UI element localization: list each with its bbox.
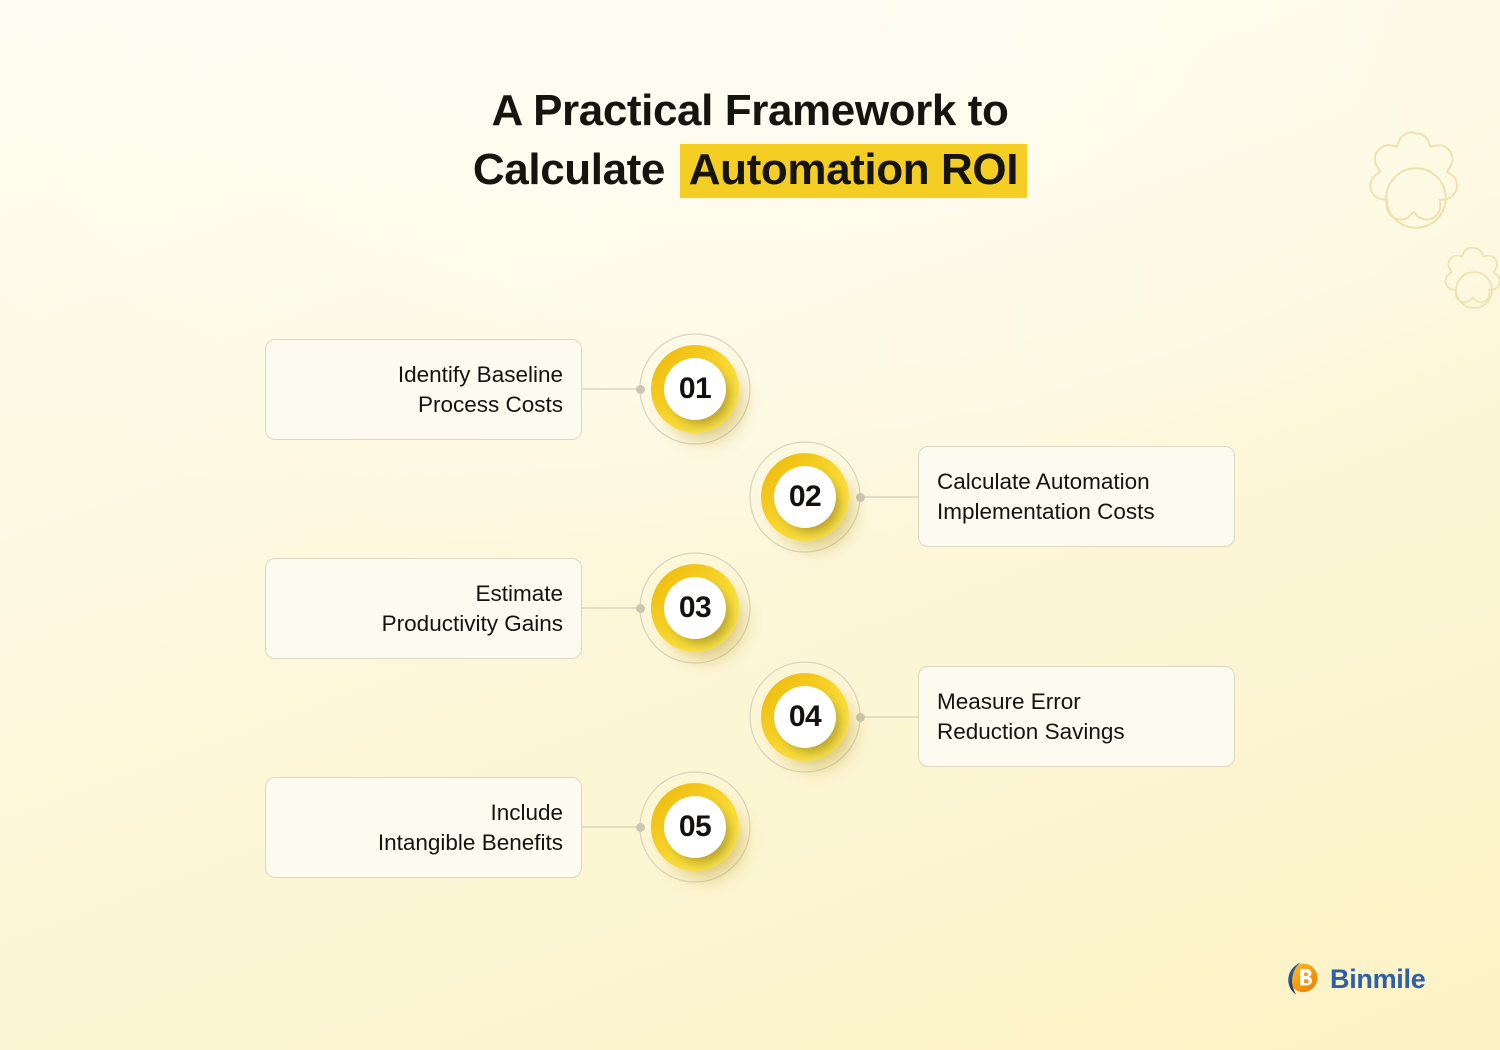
gear-icon — [1414, 230, 1500, 350]
step-card-3[interactable]: Estimate Productivity Gains — [265, 558, 582, 659]
connector-dot-1 — [636, 385, 645, 394]
connector-dot-2 — [856, 493, 865, 502]
step-node-inner-2: 02 — [774, 466, 836, 528]
title-line-2-prefix: Calculate — [473, 145, 677, 194]
step-number-3: 03 — [679, 593, 711, 623]
step-label-1: Identify Baseline Process Costs — [284, 360, 563, 420]
binmile-logo-icon — [1283, 960, 1321, 998]
title-line-2: Calculate Automation ROI — [0, 141, 1500, 200]
step-number-1: 01 — [679, 374, 711, 404]
step-card-5[interactable]: Include Intangible Benefits — [265, 777, 582, 878]
step-number-5: 05 — [679, 812, 711, 842]
step-label-2: Calculate Automation Implementation Cost… — [937, 467, 1216, 527]
brand-logo[interactable]: Binmile — [1283, 960, 1425, 998]
step-node-3[interactable]: 03 — [651, 564, 739, 652]
connector-dot-5 — [636, 823, 645, 832]
step-node-inner-3: 03 — [664, 577, 726, 639]
step-node-4[interactable]: 04 — [761, 673, 849, 761]
connector-dot-4 — [856, 713, 865, 722]
step-card-2[interactable]: Calculate Automation Implementation Cost… — [918, 446, 1235, 547]
page-title: A Practical Framework to Calculate Autom… — [0, 82, 1500, 199]
step-node-2[interactable]: 02 — [761, 453, 849, 541]
step-node-inner-4: 04 — [774, 686, 836, 748]
infographic-canvas: A Practical Framework to Calculate Autom… — [0, 0, 1500, 1050]
step-number-2: 02 — [789, 482, 821, 512]
step-card-4[interactable]: Measure Error Reduction Savings — [918, 666, 1235, 767]
step-label-4: Measure Error Reduction Savings — [937, 687, 1216, 747]
step-node-inner-1: 01 — [664, 358, 726, 420]
step-number-4: 04 — [789, 702, 821, 732]
brand-name: Binmile — [1330, 964, 1425, 995]
step-node-1[interactable]: 01 — [651, 345, 739, 433]
step-node-inner-5: 05 — [664, 796, 726, 858]
step-card-1[interactable]: Identify Baseline Process Costs — [265, 339, 582, 440]
step-label-5: Include Intangible Benefits — [284, 798, 563, 858]
step-node-5[interactable]: 05 — [651, 783, 739, 871]
connector-dot-3 — [636, 604, 645, 613]
step-label-3: Estimate Productivity Gains — [284, 579, 563, 639]
title-line-1: A Practical Framework to — [0, 82, 1500, 141]
title-highlight: Automation ROI — [680, 144, 1027, 199]
